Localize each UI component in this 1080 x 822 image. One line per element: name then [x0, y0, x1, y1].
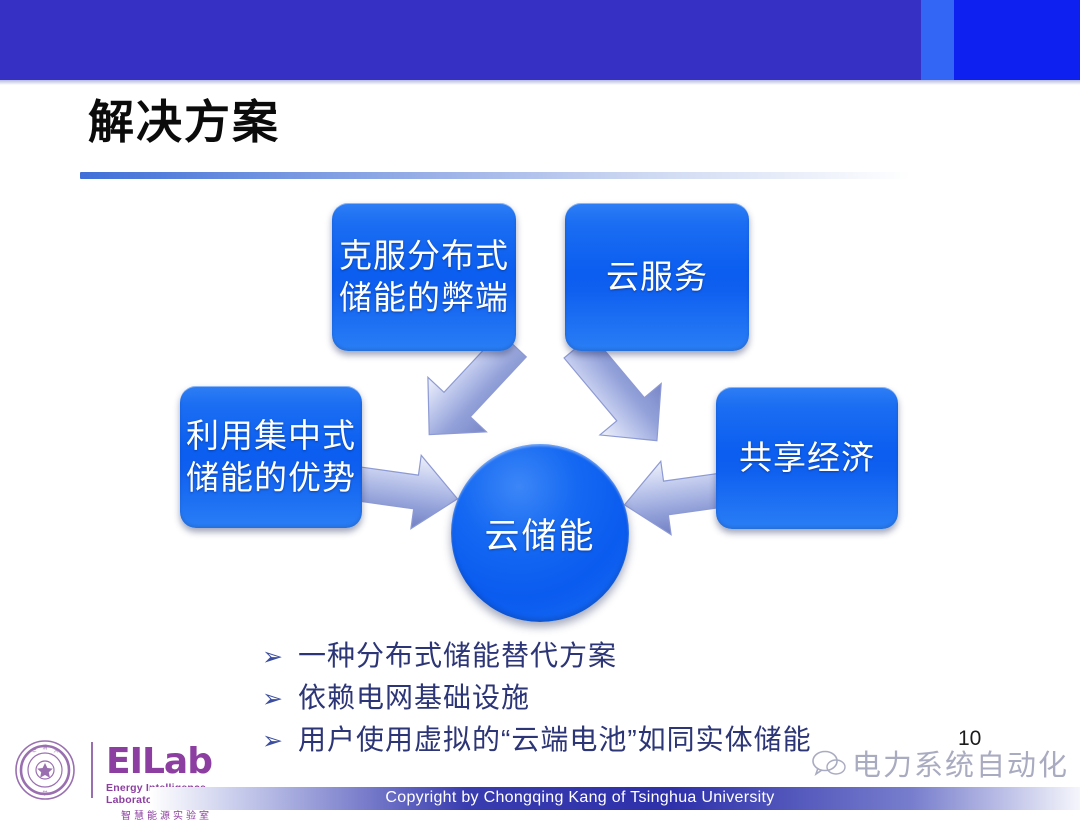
- list-item: ➢ 一种分布式储能替代方案: [262, 638, 1002, 674]
- bullet-text: 用户使用虚拟的“云端电池”如同实体储能: [298, 722, 812, 758]
- node-centralized-label: 利用集中式储能的优势: [180, 415, 362, 498]
- logo-divider: [91, 742, 93, 798]
- node-sharing-economy-label: 共享经济: [733, 437, 881, 479]
- svg-text:清: 清: [42, 744, 47, 751]
- arrow-sharing-to-center: [622, 458, 724, 538]
- svg-text:大: 大: [53, 747, 58, 754]
- eilab-wordmark: EILab: [106, 744, 212, 780]
- eilab-logo: EILab Energy Intelligence Laboratory 智慧能…: [106, 744, 212, 822]
- node-sharing-economy[interactable]: 共享经济: [716, 387, 898, 529]
- node-cloud-service-label: 云服务: [600, 256, 714, 298]
- svg-text:华: 华: [31, 747, 36, 754]
- bullet-arrow-icon: ➢: [262, 687, 298, 712]
- tsinghua-seal-icon: 清 华 大 学: [14, 739, 76, 801]
- wechat-icon: [812, 749, 846, 777]
- node-overcome-distributed-storage-drawbacks[interactable]: 克服分布式储能的弊端: [332, 203, 516, 351]
- bullet-arrow-icon: ➢: [262, 729, 298, 754]
- list-item: ➢ 依赖电网基础设施: [262, 680, 1002, 716]
- bullet-text: 一种分布式储能替代方案: [298, 638, 617, 674]
- page-number: 10: [958, 727, 981, 751]
- bullet-arrow-icon: ➢: [262, 645, 298, 670]
- bullet-text: 依赖电网基础设施: [298, 680, 530, 716]
- node-center-label: 云储能: [484, 508, 595, 559]
- footer-copyright: Copyright by Chongqing Kang of Tsinghua …: [320, 789, 840, 807]
- node-centralized-storage-advantages[interactable]: 利用集中式储能的优势: [180, 386, 362, 528]
- arrow-centralized-to-center: [358, 452, 460, 532]
- watermark: 电力系统自动化: [812, 742, 1069, 784]
- node-cloud-service[interactable]: 云服务: [565, 203, 749, 351]
- svg-text:学: 学: [42, 790, 47, 797]
- node-cloud-energy-storage-center[interactable]: 云储能: [451, 444, 629, 622]
- node-overcome-label: 克服分布式储能的弊端: [332, 235, 516, 318]
